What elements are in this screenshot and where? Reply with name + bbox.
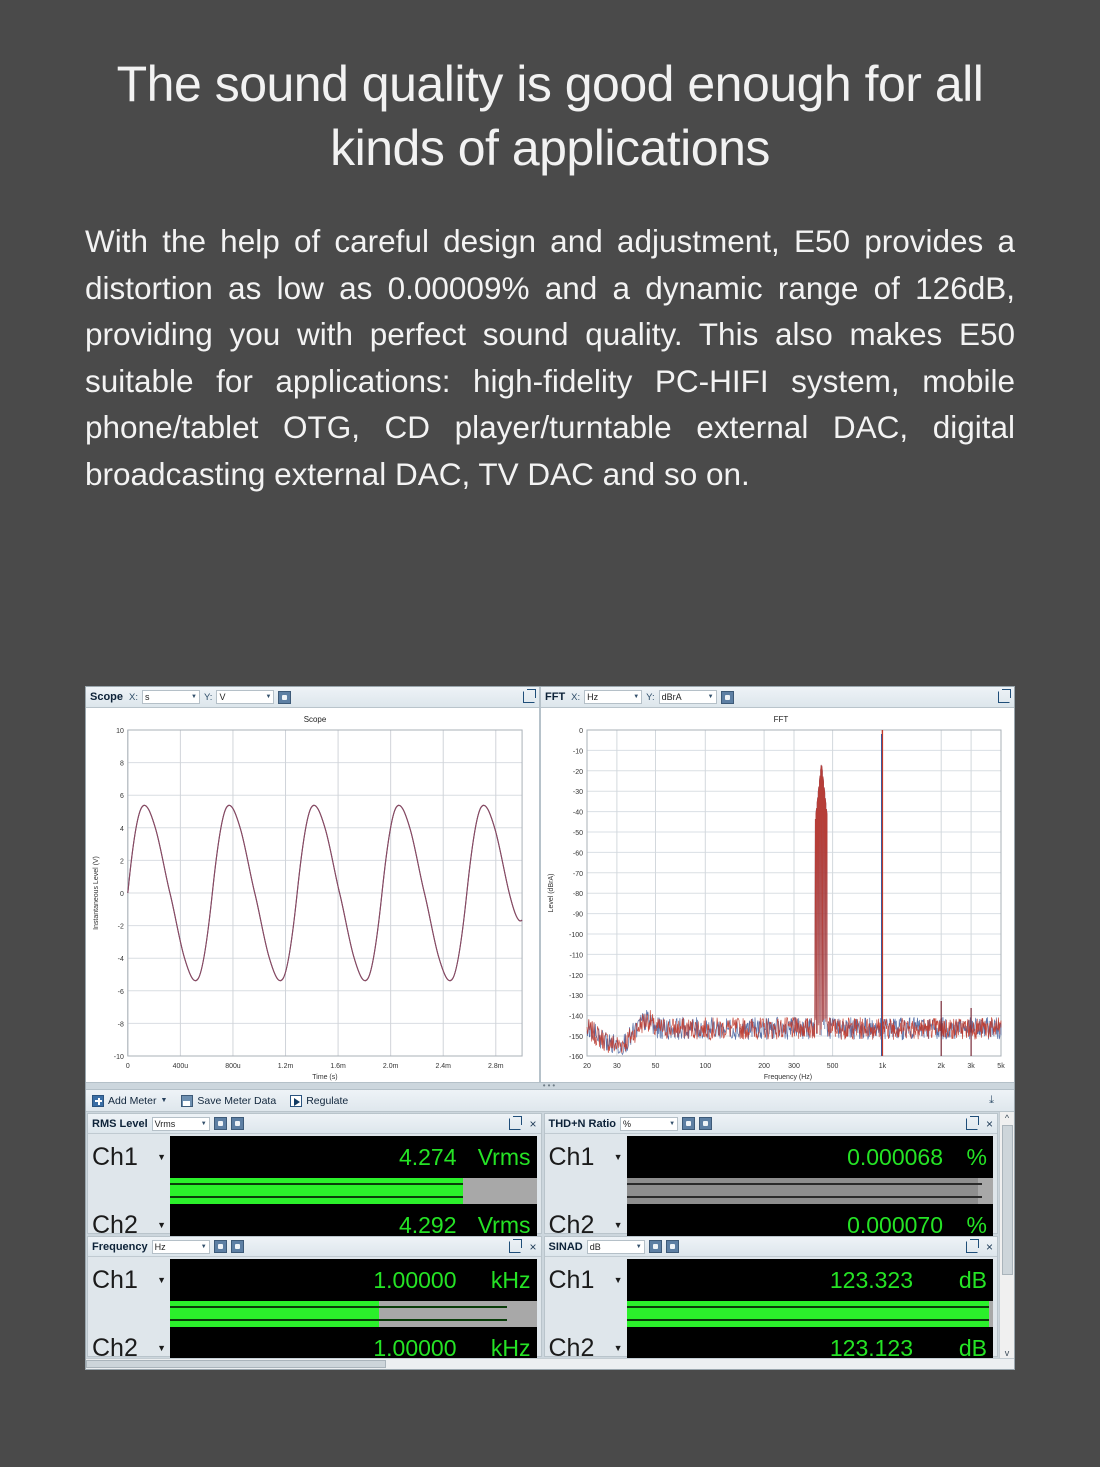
svg-text:FFT: FFT	[774, 715, 789, 724]
level-bar-peak-line	[170, 1306, 507, 1308]
level-bar-peak-line	[627, 1183, 983, 1185]
svg-text:20: 20	[583, 1063, 591, 1070]
save-icon	[181, 1095, 193, 1107]
meters-area: RMS LevelVrms▼×Ch1▼4.274VrmsCh2▼4.292Vrm…	[86, 1112, 1014, 1358]
svg-text:0: 0	[120, 891, 124, 898]
channel-selector[interactable]: Ch1▼	[92, 1259, 170, 1301]
page-title: The sound quality is good enough for all…	[85, 0, 1015, 180]
panel-splitter[interactable]: •••	[86, 1082, 1014, 1090]
svg-text:-140: -140	[569, 1014, 583, 1021]
svg-text:2.8m: 2.8m	[488, 1063, 504, 1070]
fft-plot: FFT	[541, 708, 1014, 1082]
chevron-down-icon: ▼	[160, 1097, 167, 1104]
svg-text:-130: -130	[569, 993, 583, 1000]
fft-x-unit-value: Hz	[587, 692, 630, 702]
svg-text:-8: -8	[118, 1021, 124, 1028]
meters-vertical-scrollbar[interactable]: ^ v	[999, 1112, 1014, 1358]
svg-text:2.4m: 2.4m	[435, 1063, 451, 1070]
meter-panel: SINADdB▼×Ch1▼123.323dBCh2▼123.123dB	[544, 1236, 999, 1357]
meter-body: Ch1▼0.000068%Ch2▼0.000070%	[545, 1134, 998, 1250]
svg-text:-10: -10	[114, 1054, 124, 1061]
meter-body: Ch1▼1.00000kHzCh2▼1.00000kHz	[88, 1257, 541, 1370]
page-body-copy: With the help of careful design and adju…	[85, 218, 1015, 498]
channel-unit: dB	[923, 1267, 987, 1294]
chevron-down-icon: ▼	[630, 694, 639, 700]
svg-text:-2: -2	[118, 924, 124, 931]
svg-text:-50: -50	[573, 830, 583, 837]
meter-display-mode-icon[interactable]	[214, 1117, 227, 1130]
channel-level-bar	[170, 1314, 537, 1327]
meter-toolbar: Add Meter ▼ Save Meter Data Regulate ⤓	[86, 1090, 1014, 1112]
chevron-down-icon: ▼	[633, 1244, 642, 1250]
scope-x-unit-select[interactable]: s ▼	[142, 690, 200, 704]
level-bar-peak-line	[627, 1319, 990, 1321]
channel-readout: 123.323dB	[627, 1259, 994, 1301]
fft-svg: FFT	[541, 708, 1014, 1082]
svg-text:0: 0	[126, 1063, 130, 1070]
fft-y-unit-value: dBrA	[662, 692, 705, 702]
channel-selector[interactable]: Ch1▼	[549, 1259, 627, 1301]
scope-popout-icon[interactable]	[523, 691, 535, 703]
meter-panel: THD+N Ratio%▼×Ch1▼0.000068%Ch2▼0.000070%	[544, 1113, 999, 1234]
scope-y-unit-value: V	[219, 692, 262, 702]
meter-display-mode-icon[interactable]	[649, 1240, 662, 1253]
svg-text:-40: -40	[573, 810, 583, 817]
graphs-row: Scope X: s ▼ Y: V ▼ Scope	[86, 687, 1014, 1082]
meter-close-icon[interactable]: ×	[982, 1241, 993, 1253]
svg-text:-30: -30	[573, 789, 583, 796]
chevron-down-icon: ▼	[157, 1152, 166, 1162]
scope-plot: Scope	[86, 708, 539, 1082]
chevron-down-icon: ▼	[198, 1121, 207, 1127]
svg-text:-20: -20	[573, 769, 583, 776]
svg-text:Instantaneous Level (V): Instantaneous Level (V)	[93, 856, 100, 930]
meter-channel-row: Ch1▼1.00000kHz	[92, 1259, 537, 1301]
plus-icon	[92, 1095, 104, 1107]
fft-y-axis-tag: Y:	[646, 692, 654, 703]
meter-header: RMS LevelVrms▼×	[88, 1114, 541, 1134]
save-meter-data-label: Save Meter Data	[197, 1095, 276, 1107]
meter-title: RMS Level	[92, 1118, 148, 1130]
svg-text:2k: 2k	[937, 1063, 945, 1070]
channel-value: 1.00000	[373, 1267, 456, 1294]
channel-value: 123.323	[830, 1267, 913, 1294]
meter-channel-row: Ch1▼0.000068%	[549, 1136, 994, 1178]
meter-settings-icon[interactable]	[666, 1240, 679, 1253]
meter-popout-icon[interactable]	[509, 1118, 521, 1130]
meter-popout-icon[interactable]	[966, 1118, 978, 1130]
meter-popout-icon[interactable]	[509, 1241, 521, 1253]
channel-level-bar	[627, 1314, 994, 1327]
channel-name: Ch1	[92, 1266, 138, 1295]
svg-text:1.2m: 1.2m	[278, 1063, 294, 1070]
svg-text:2: 2	[120, 858, 124, 865]
svg-text:-90: -90	[573, 912, 583, 919]
meter-display-mode-icon[interactable]	[214, 1240, 227, 1253]
regulate-button[interactable]: Regulate	[290, 1095, 348, 1107]
svg-text:Time (s): Time (s)	[312, 1074, 337, 1081]
svg-text:1.6m: 1.6m	[330, 1063, 346, 1070]
channel-name: Ch1	[92, 1143, 138, 1172]
channel-level-bar	[627, 1191, 994, 1204]
svg-text:5k: 5k	[997, 1063, 1005, 1070]
horizontal-scrollbar-thumb[interactable]	[86, 1360, 386, 1368]
add-meter-button[interactable]: Add Meter ▼	[92, 1095, 167, 1107]
meter-settings-icon[interactable]	[231, 1240, 244, 1253]
scope-svg: Scope	[86, 708, 539, 1082]
channel-level-bar	[170, 1301, 537, 1314]
chevron-down-icon: ▼	[614, 1220, 623, 1230]
channel-selector[interactable]: Ch1▼	[549, 1136, 627, 1178]
scope-x-unit-value: s	[145, 692, 188, 702]
meter-popout-icon[interactable]	[966, 1241, 978, 1253]
level-bar-peak-line	[170, 1196, 463, 1198]
chevron-down-icon: ▼	[188, 694, 197, 700]
save-meter-data-button[interactable]: Save Meter Data	[181, 1095, 276, 1107]
meter-unit-select[interactable]: dB▼	[587, 1240, 645, 1254]
audio-analyzer-window: Scope X: s ▼ Y: V ▼ Scope	[85, 686, 1015, 1370]
level-bar-peak-line	[170, 1319, 507, 1321]
chevron-down-icon: ▼	[614, 1152, 623, 1162]
fft-x-unit-select[interactable]: Hz ▼	[584, 690, 642, 704]
svg-text:10: 10	[116, 728, 124, 735]
svg-text:Scope: Scope	[304, 715, 327, 724]
meter-header: FrequencyHz▼×	[88, 1237, 541, 1257]
scrollbar-thumb[interactable]	[1002, 1125, 1013, 1275]
meter-channel-row: Ch1▼123.323dB	[549, 1259, 994, 1301]
meter-panel: FrequencyHz▼×Ch1▼1.00000kHzCh2▼1.00000kH…	[87, 1236, 542, 1357]
svg-text:300: 300	[788, 1063, 800, 1070]
meter-body: Ch1▼123.323dBCh2▼123.123dB	[545, 1257, 998, 1370]
svg-text:2.0m: 2.0m	[383, 1063, 399, 1070]
meter-title: SINAD	[549, 1241, 583, 1253]
scope-y-axis-tag: Y:	[204, 692, 212, 703]
chevron-down-icon: ▼	[614, 1275, 623, 1285]
channel-level-bar	[627, 1301, 994, 1314]
meter-unit-select[interactable]: %▼	[620, 1117, 678, 1131]
svg-text:-60: -60	[573, 850, 583, 857]
scope-settings-icon[interactable]	[278, 691, 291, 704]
play-icon	[290, 1095, 302, 1107]
meter-unit-value: dB	[590, 1242, 633, 1252]
chevron-down-icon: ▼	[705, 694, 714, 700]
channel-unit: Vrms	[467, 1144, 531, 1171]
channel-level-bar	[170, 1178, 537, 1191]
svg-text:-150: -150	[569, 1034, 583, 1041]
channel-unit: Vrms	[467, 1212, 531, 1239]
meters-grid: RMS LevelVrms▼×Ch1▼4.274VrmsCh2▼4.292Vrm…	[86, 1112, 999, 1358]
level-bar-peak-line	[170, 1183, 463, 1185]
fft-popout-icon[interactable]	[998, 691, 1010, 703]
scope-panel-header: Scope X: s ▼ Y: V ▼	[86, 687, 539, 708]
svg-text:4: 4	[120, 826, 124, 833]
scroll-down-icon[interactable]: v	[1005, 1348, 1010, 1358]
chevron-down-icon: ▼	[157, 1343, 166, 1353]
svg-text:Frequency (Hz): Frequency (Hz)	[764, 1074, 812, 1081]
svg-text:200: 200	[758, 1063, 770, 1070]
meter-unit-value: Hz	[155, 1242, 198, 1252]
chevron-down-icon: ▼	[263, 694, 272, 700]
meter-channel-row: Ch1▼4.274Vrms	[92, 1136, 537, 1178]
channel-name: Ch1	[549, 1143, 595, 1172]
svg-text:-10: -10	[573, 748, 583, 755]
svg-text:Level (dBrA): Level (dBrA)	[548, 874, 555, 913]
splitter-grip-icon: •••	[543, 1083, 557, 1089]
channel-readout: 1.00000kHz	[170, 1259, 537, 1301]
channel-readout: 0.000068%	[627, 1136, 994, 1178]
svg-text:800u: 800u	[225, 1063, 241, 1070]
meter-header: THD+N Ratio%▼×	[545, 1114, 998, 1134]
fft-settings-icon[interactable]	[721, 691, 734, 704]
svg-text:100: 100	[699, 1063, 711, 1070]
chevron-down-icon: ▼	[157, 1275, 166, 1285]
body-paragraph: With the help of careful design and adju…	[85, 218, 1015, 498]
svg-text:-120: -120	[569, 973, 583, 980]
meter-close-icon[interactable]: ×	[525, 1118, 536, 1130]
scope-panel: Scope X: s ▼ Y: V ▼ Scope	[86, 687, 541, 1082]
channel-readout: 4.274Vrms	[170, 1136, 537, 1178]
channel-unit: %	[953, 1144, 987, 1171]
meter-title: THD+N Ratio	[549, 1118, 617, 1130]
channel-value: 0.000068	[847, 1144, 943, 1171]
meter-unit-select[interactable]: Vrms▼	[152, 1117, 210, 1131]
toolbar-overflow-icon[interactable]: ⤓	[989, 1094, 1008, 1107]
scope-y-unit-select[interactable]: V ▼	[216, 690, 274, 704]
fft-title: FFT	[545, 691, 565, 703]
meter-body: Ch1▼4.274VrmsCh2▼4.292Vrms	[88, 1134, 541, 1250]
channel-unit: %	[953, 1212, 987, 1239]
svg-text:30: 30	[613, 1063, 621, 1070]
meter-settings-icon[interactable]	[699, 1117, 712, 1130]
svg-text:50: 50	[652, 1063, 660, 1070]
channel-value: 4.292	[399, 1212, 457, 1239]
level-bar-peak-line	[627, 1306, 990, 1308]
chevron-down-icon: ▼	[157, 1220, 166, 1230]
regulate-label: Regulate	[306, 1095, 348, 1107]
meter-settings-icon[interactable]	[231, 1117, 244, 1130]
fft-x-axis-tag: X:	[571, 692, 580, 703]
meter-unit-value: Vrms	[155, 1119, 198, 1129]
svg-text:-160: -160	[569, 1054, 583, 1061]
channel-level-bar	[170, 1191, 537, 1204]
svg-text:-100: -100	[569, 932, 583, 939]
scope-title: Scope	[90, 691, 123, 703]
channel-level-bar	[627, 1178, 994, 1191]
meter-header: SINADdB▼×	[545, 1237, 998, 1257]
fft-y-unit-select[interactable]: dBrA ▼	[659, 690, 717, 704]
svg-text:1k: 1k	[879, 1063, 887, 1070]
chevron-down-icon: ▼	[198, 1244, 207, 1250]
meter-close-icon[interactable]: ×	[525, 1241, 536, 1253]
chevron-down-icon: ▼	[666, 1121, 675, 1127]
channel-value: 0.000070	[847, 1212, 943, 1239]
meter-unit-value: %	[623, 1119, 666, 1129]
svg-text:-4: -4	[118, 956, 124, 963]
meter-unit-select[interactable]: Hz▼	[152, 1240, 210, 1254]
channel-unit: kHz	[467, 1267, 531, 1294]
svg-text:3k: 3k	[967, 1063, 975, 1070]
svg-text:-110: -110	[570, 952, 584, 959]
scroll-up-icon[interactable]: ^	[1005, 1113, 1009, 1123]
level-bar-peak-line	[627, 1196, 983, 1198]
svg-text:8: 8	[120, 761, 124, 768]
channel-selector[interactable]: Ch1▼	[92, 1136, 170, 1178]
meter-close-icon[interactable]: ×	[982, 1118, 993, 1130]
svg-text:6: 6	[120, 793, 124, 800]
svg-text:0: 0	[579, 728, 583, 735]
scope-x-axis-tag: X:	[129, 692, 138, 703]
svg-text:-80: -80	[573, 891, 583, 898]
svg-text:-6: -6	[118, 989, 124, 996]
meter-title: Frequency	[92, 1241, 148, 1253]
svg-text:400u: 400u	[173, 1063, 189, 1070]
add-meter-label: Add Meter	[108, 1095, 156, 1107]
meter-display-mode-icon[interactable]	[682, 1117, 695, 1130]
svg-text:-70: -70	[573, 871, 583, 878]
meter-panel: RMS LevelVrms▼×Ch1▼4.274VrmsCh2▼4.292Vrm…	[87, 1113, 542, 1234]
horizontal-scrollbar[interactable]	[86, 1358, 1014, 1369]
fft-panel: FFT X: Hz ▼ Y: dBrA ▼ FFT	[541, 687, 1014, 1082]
svg-text:500: 500	[827, 1063, 839, 1070]
chevron-down-icon: ▼	[614, 1343, 623, 1353]
channel-name: Ch1	[549, 1266, 595, 1295]
fft-panel-header: FFT X: Hz ▼ Y: dBrA ▼	[541, 687, 1014, 708]
channel-value: 4.274	[399, 1144, 457, 1171]
